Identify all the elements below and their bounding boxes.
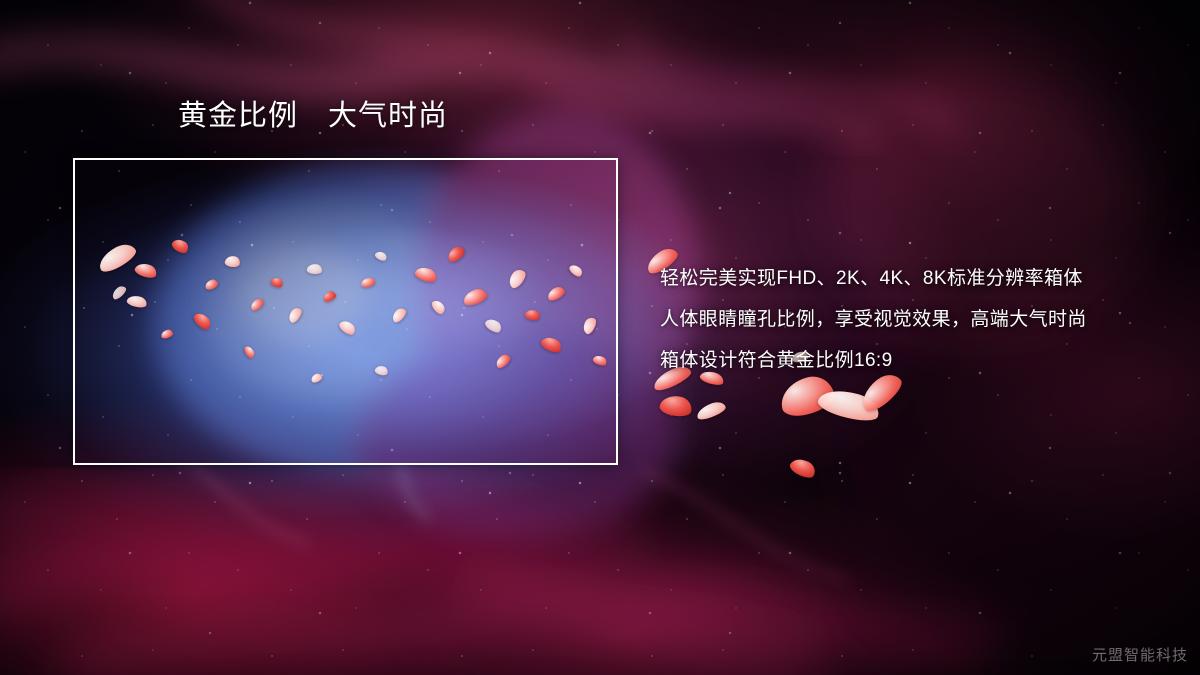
led-panel-preview-frame[interactable] <box>73 158 618 465</box>
description-line-1: 轻松完美实现FHD、2K、4K、8K标准分辨率箱体 <box>660 258 1180 299</box>
page-title: 黄金比例 大气时尚 <box>178 100 448 133</box>
presentation-slide: 黄金比例 大气时尚 <box>0 0 1200 675</box>
preview-nebula-image <box>75 160 616 463</box>
description-line-3: 箱体设计符合黄金比例16:9 <box>660 340 1180 381</box>
description-line-2: 人体眼睛瞳孔比例，享受视觉效果，高端大气时尚 <box>660 299 1180 340</box>
watermark-label: 元盟智能科技 <box>1092 644 1188 665</box>
preview-screen-content <box>75 160 616 463</box>
feature-description-block: 轻松完美实现FHD、2K、4K、8K标准分辨率箱体 人体眼睛瞳孔比例，享受视觉效… <box>660 258 1180 381</box>
